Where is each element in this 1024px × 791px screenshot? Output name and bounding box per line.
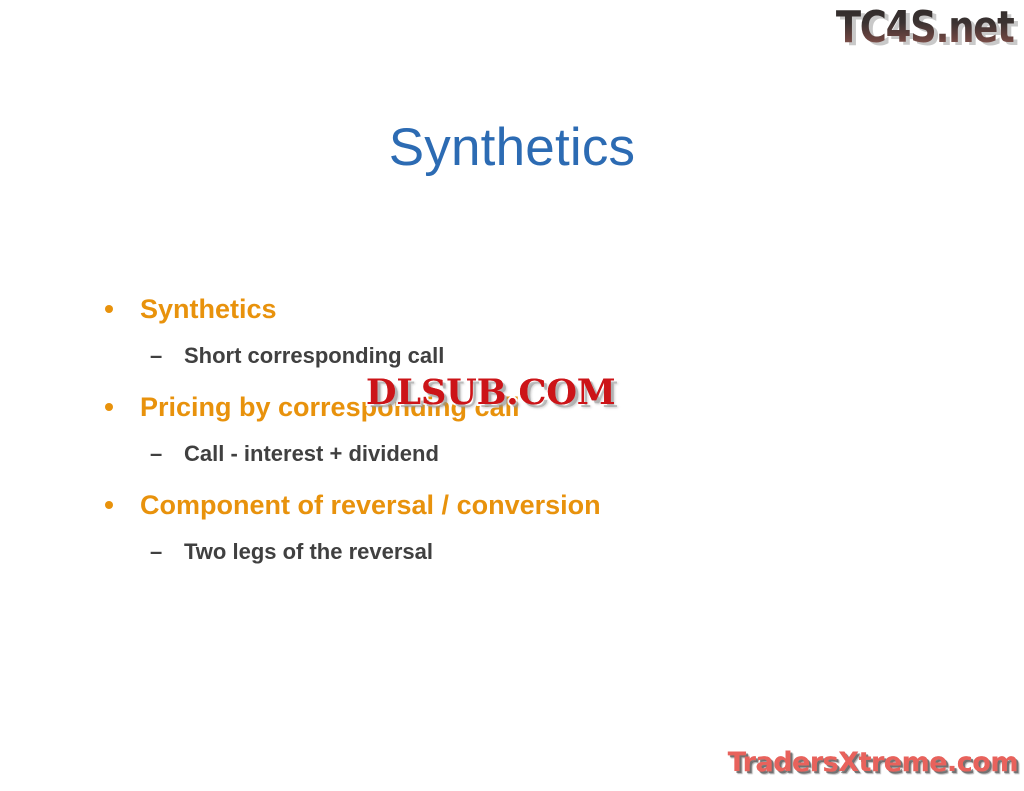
- presentation-slide: TC4S.net TC4S.net Synthetics Synthetics …: [0, 0, 1024, 791]
- bullet-level1-3: Component of reversal / conversion: [96, 488, 836, 522]
- bullet-level2-1: – Short corresponding call: [96, 341, 836, 370]
- bullet-level2-3: – Two legs of the reversal: [96, 537, 836, 566]
- bullet-level2-2-label: Call - interest + dividend: [184, 441, 439, 466]
- bullet-level2-1-label: Short corresponding call: [184, 343, 444, 368]
- slide-title: Synthetics: [0, 118, 1024, 178]
- bullet-dot-icon: [105, 501, 113, 509]
- bullet-dash-icon: –: [150, 537, 162, 566]
- bullet-level2-2: – Call - interest + dividend: [96, 439, 836, 468]
- watermark-tradersxtreme: TradersXtreme.com TradersXtreme.com: [728, 747, 1018, 778]
- spacer: [96, 424, 836, 439]
- bullet-dot-icon: [105, 403, 113, 411]
- bullet-level2-3-label: Two legs of the reversal: [184, 539, 433, 564]
- spacer: [96, 522, 836, 537]
- bullet-level1-3-label: Component of reversal / conversion: [140, 490, 601, 520]
- watermark-tc4s-text: TC4S.net: [836, 2, 1014, 53]
- spacer: [96, 468, 836, 488]
- bullet-level1-1-label: Synthetics: [140, 294, 277, 324]
- watermark-tradersxtreme-fill: TradersXtreme.com: [728, 747, 1018, 778]
- bullet-dash-icon: –: [150, 439, 162, 468]
- bullet-dot-icon: [105, 305, 113, 313]
- slide-body-list: Synthetics – Short corresponding call Pr…: [96, 292, 836, 566]
- bullet-dash-icon: –: [150, 341, 162, 370]
- spacer: [96, 326, 836, 341]
- bullet-level1-1: Synthetics: [96, 292, 836, 326]
- watermark-dlsub: DLSUB.COM DLSUB.COM: [366, 372, 616, 413]
- watermark-dlsub-fill: DLSUB.COM: [366, 372, 616, 413]
